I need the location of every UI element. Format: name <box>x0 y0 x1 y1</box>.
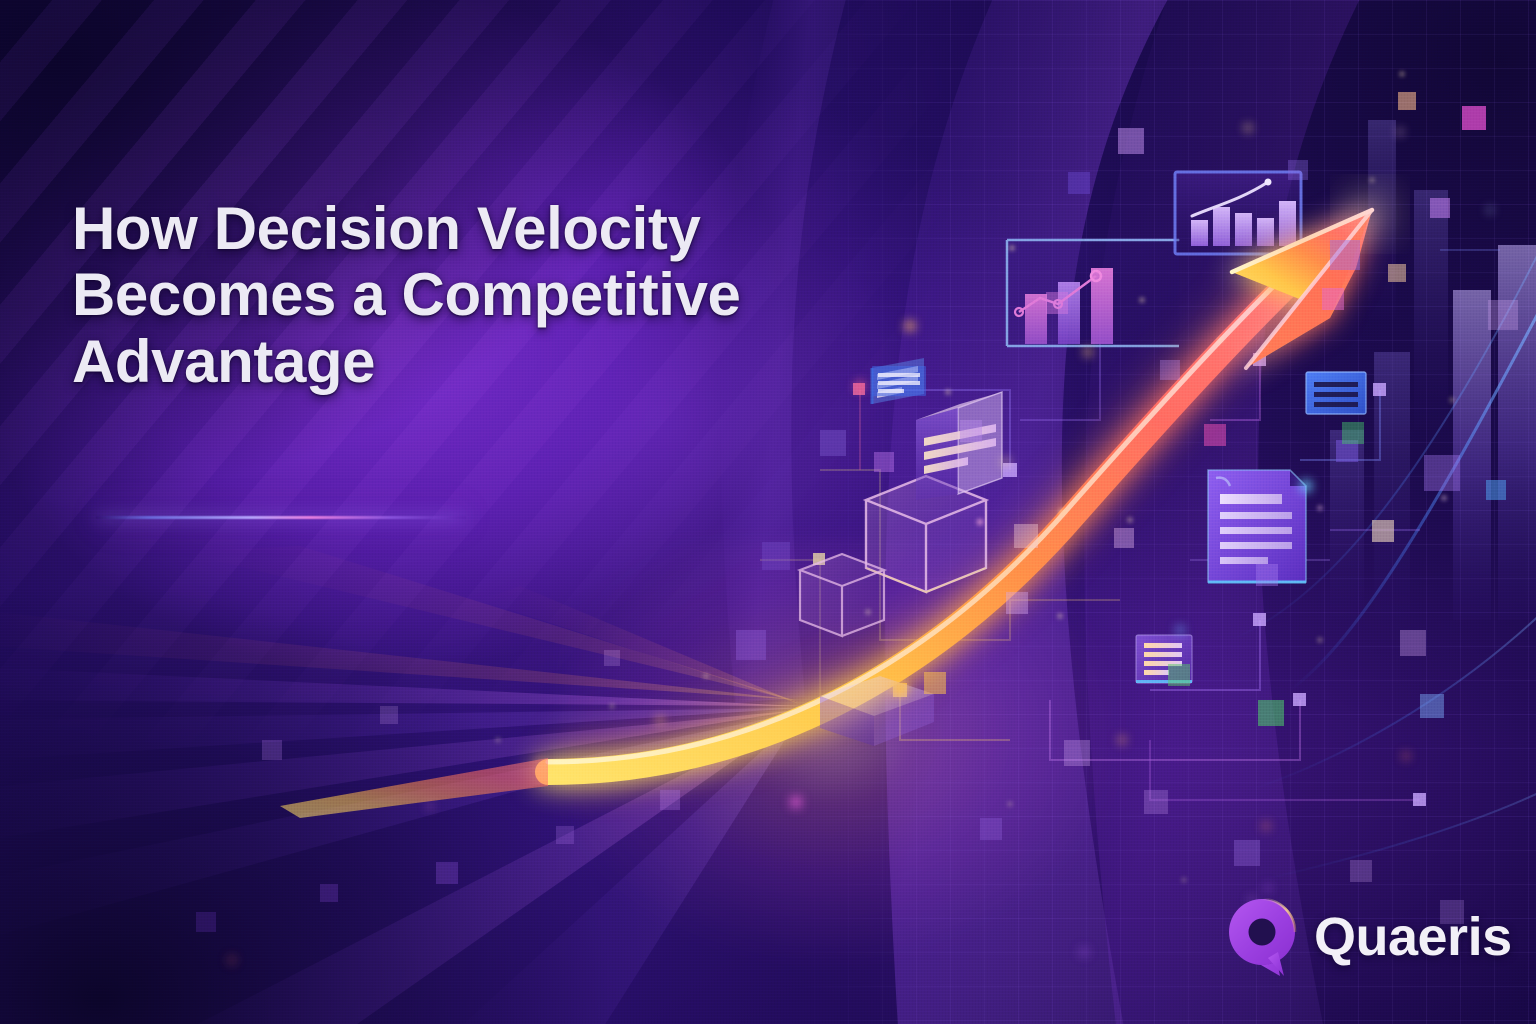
glow-particles <box>0 0 1536 1024</box>
brand-name: Quaeris <box>1314 910 1512 964</box>
page-title: How Decision Velocity Becomes a Competit… <box>72 196 872 395</box>
hero-banner: How Decision Velocity Becomes a Competit… <box>0 0 1536 1024</box>
brand-logo[interactable]: Quaeris <box>1228 898 1512 976</box>
hero-title-block: How Decision Velocity Becomes a Competit… <box>72 196 872 395</box>
quaeris-q-speech-bubble-icon <box>1228 898 1300 976</box>
title-divider-streak <box>96 516 466 519</box>
